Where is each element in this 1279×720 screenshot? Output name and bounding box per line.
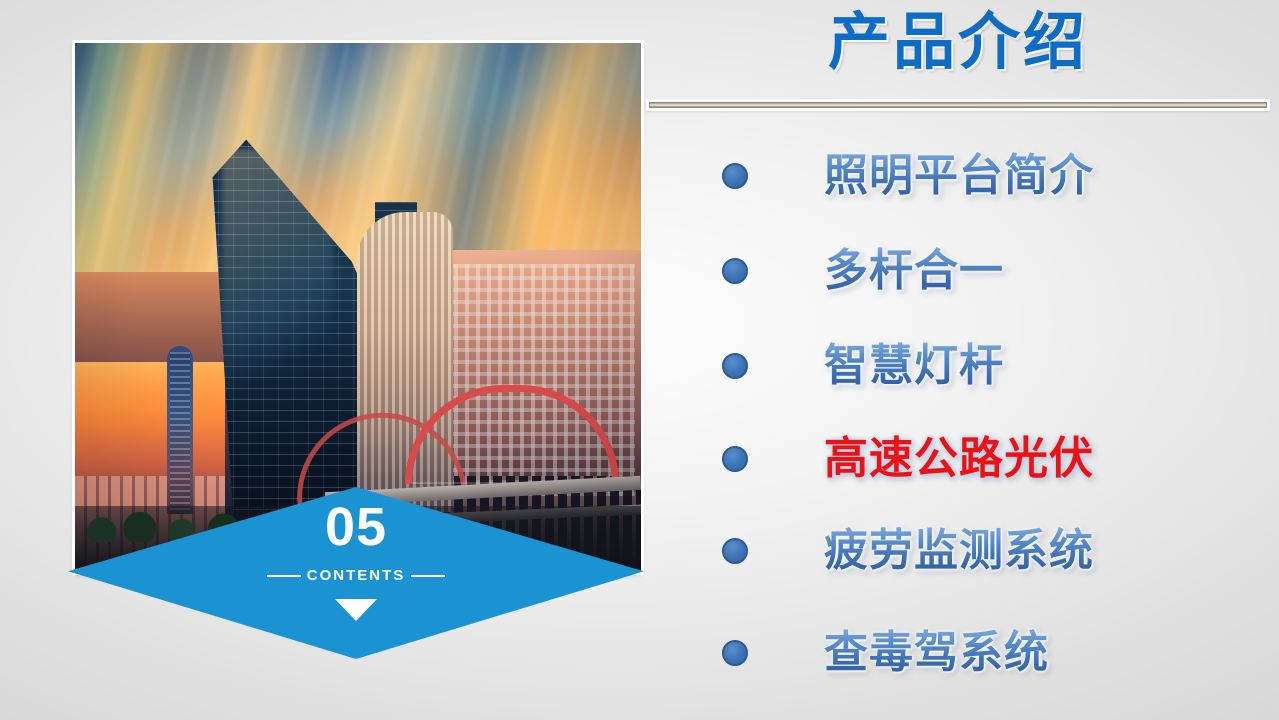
- list-item-label: 高速公路光伏: [824, 435, 1094, 483]
- list-item-label: 多杆合一: [824, 247, 1004, 295]
- list-item-label: 查毒驾系统: [824, 629, 1049, 677]
- list-item[interactable]: 多杆合一: [646, 225, 1276, 317]
- list-item[interactable]: 疲劳监测系统: [646, 505, 1276, 597]
- bullet-circle-icon: [722, 163, 748, 189]
- list-item-label: 照明平台简介: [824, 152, 1094, 200]
- contents-list: 照明平台简介 多杆合一 智慧灯杆 高速公路光伏 疲劳监测系统 查毒驾系统: [646, 130, 1276, 706]
- list-item-label: 疲劳监测系统: [824, 527, 1094, 575]
- slide-canvas: 05 CONTENTS 产品介绍 照明平台简介 多杆合一 智慧灯杆 高速公路光伏: [0, 0, 1279, 720]
- list-item[interactable]: 查毒驾系统: [646, 607, 1276, 699]
- spire-tower: [167, 346, 193, 514]
- page-title: 产品介绍: [645, 4, 1271, 82]
- title-divider: [646, 99, 1270, 111]
- bullet-circle-icon: [722, 258, 748, 284]
- list-item-label: 智慧灯杆: [824, 342, 1004, 390]
- list-item[interactable]: 高速公路光伏: [646, 413, 1276, 505]
- bullet-circle-icon: [722, 538, 748, 564]
- list-item[interactable]: 智慧灯杆: [646, 320, 1276, 412]
- bullet-circle-icon: [722, 446, 748, 472]
- list-item[interactable]: 照明平台简介: [646, 130, 1276, 222]
- bullet-circle-icon: [722, 353, 748, 379]
- bullet-circle-icon: [722, 640, 748, 666]
